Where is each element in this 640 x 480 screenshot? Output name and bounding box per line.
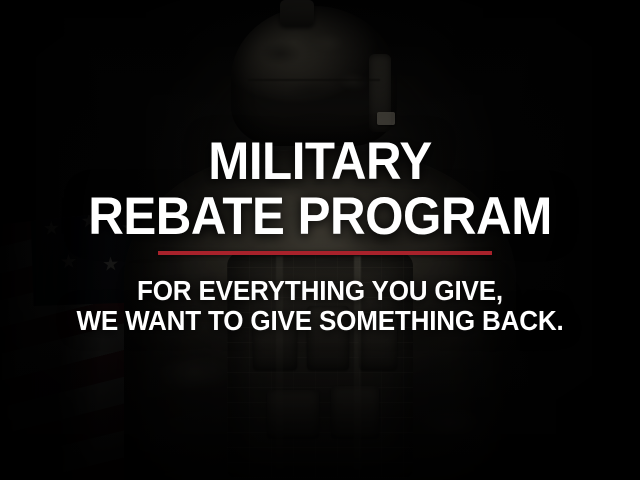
banner-content: MILITARY REBATE PROGRAM FOR EVERYTHING Y… [0,0,640,480]
headline-line-1: MILITARY [22,135,617,188]
red-divider-rule [158,251,492,255]
headline-line-2: REBATE PROGRAM [22,190,617,243]
subhead-line-2: WE WANT TO GIVE SOMETHING BACK. [22,307,617,335]
subhead-line-1: FOR EVERYTHING YOU GIVE, [22,277,617,305]
military-rebate-program-banner: ★ ★ ★ ★ ★ ★ [0,0,640,480]
